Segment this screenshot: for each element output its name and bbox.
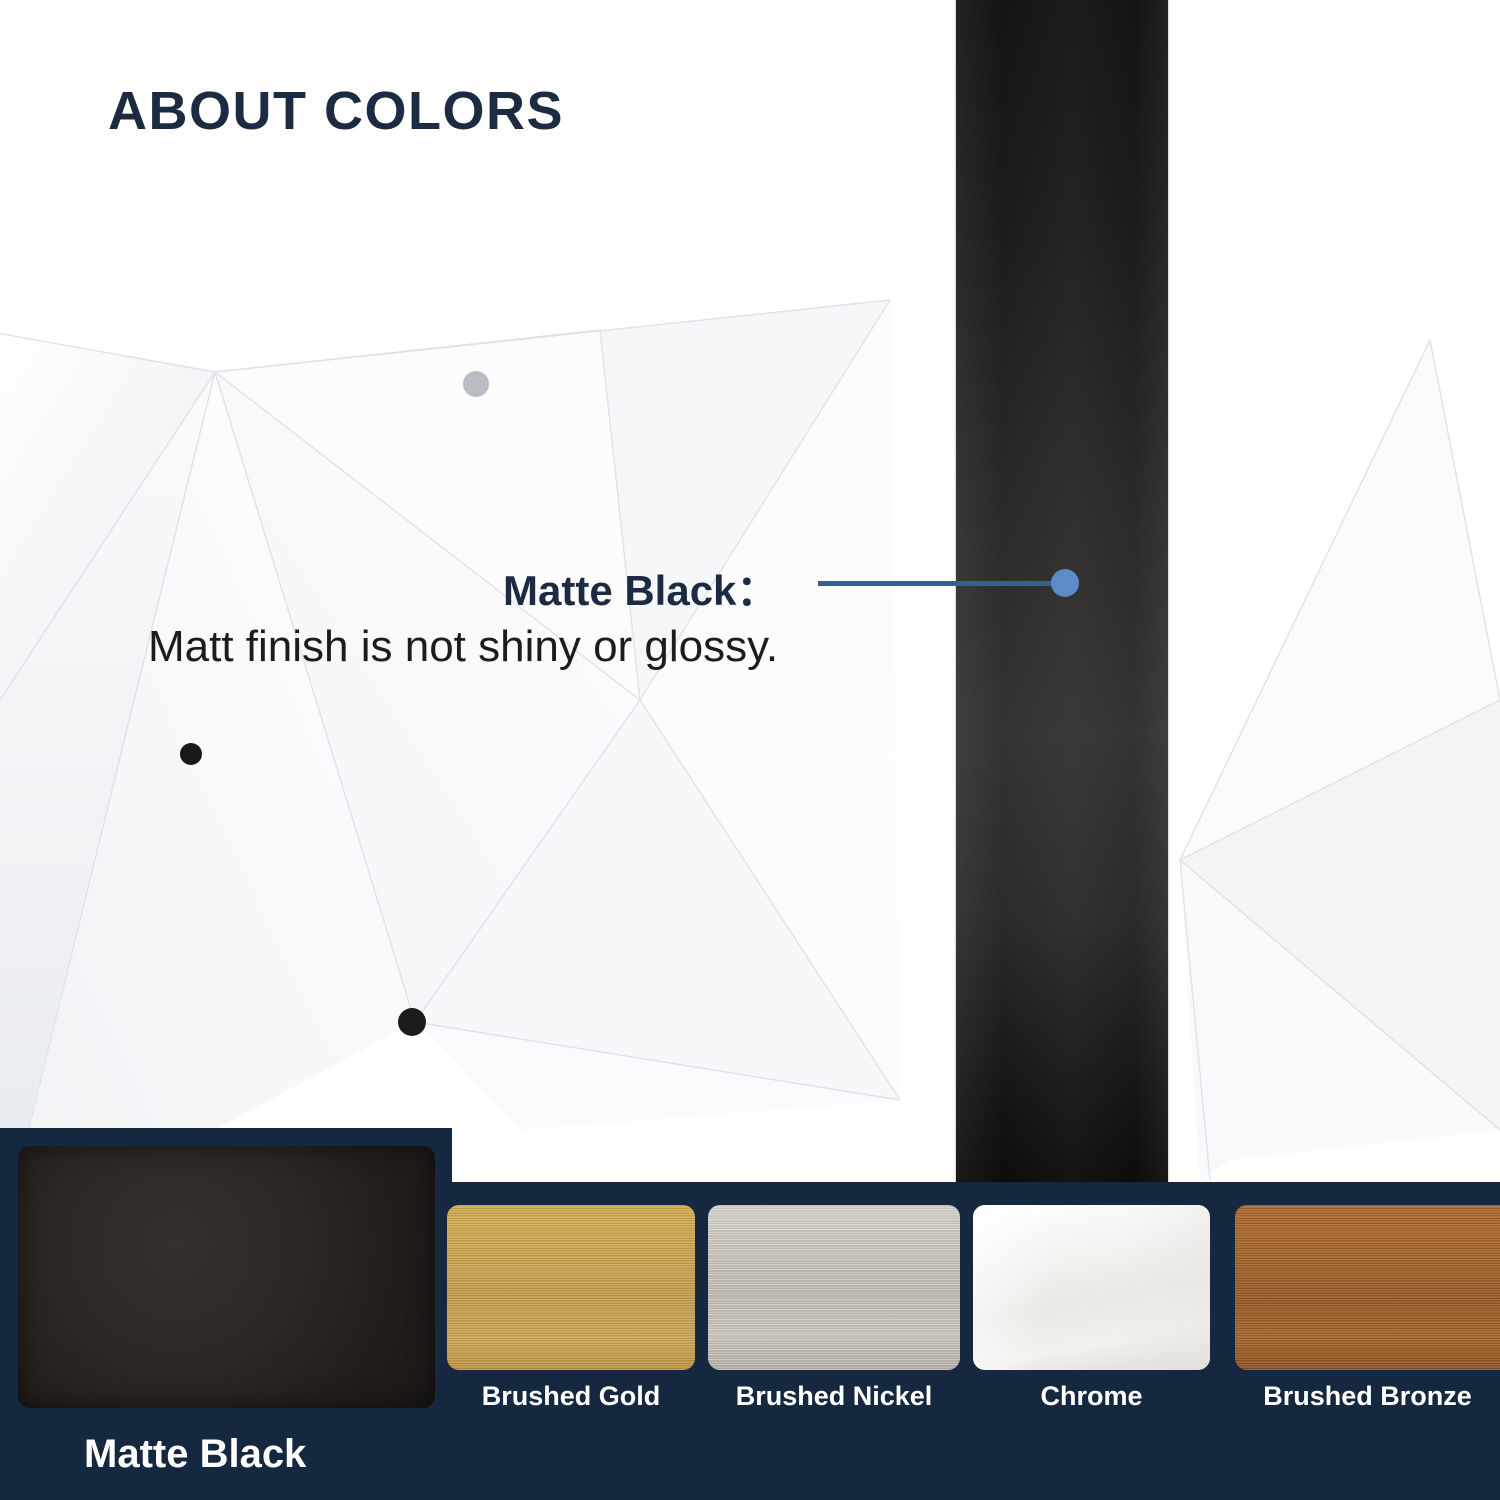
gold-grain-texture — [447, 1205, 695, 1370]
chrome-sheen-texture — [973, 1205, 1210, 1370]
node-dot-grey — [463, 371, 489, 397]
swatch-label-brushed-bronze: Brushed Bronze — [1235, 1381, 1500, 1412]
swatch-matte-black[interactable] — [18, 1146, 435, 1408]
callout-description: Matt finish is not shiny or glossy. — [148, 622, 778, 672]
node-dot-black-large — [398, 1008, 426, 1036]
page-title: ABOUT COLORS — [108, 80, 564, 142]
swatch-chrome[interactable] — [973, 1205, 1210, 1370]
swatch-label-matte-black: Matte Black — [84, 1432, 306, 1477]
swatch-label-brushed-nickel: Brushed Nickel — [708, 1381, 960, 1412]
bronze-grain-texture — [1235, 1205, 1500, 1370]
swatch-brushed-gold[interactable] — [447, 1205, 695, 1370]
infographic-canvas: ABOUT COLORS Matte Black： Matt finish is… — [0, 0, 1500, 1500]
callout-title: Matte Black： — [503, 557, 778, 618]
node-dot-black-small — [180, 743, 202, 765]
swatch-brushed-nickel[interactable] — [708, 1205, 960, 1370]
nickel-grain-texture — [708, 1205, 960, 1370]
swatch-label-chrome: Chrome — [973, 1381, 1210, 1412]
leader-dot-icon — [1051, 569, 1079, 597]
swatch-label-brushed-gold: Brushed Gold — [447, 1381, 695, 1412]
leader-line — [818, 581, 1066, 586]
swatch-brushed-bronze[interactable] — [1235, 1205, 1500, 1370]
